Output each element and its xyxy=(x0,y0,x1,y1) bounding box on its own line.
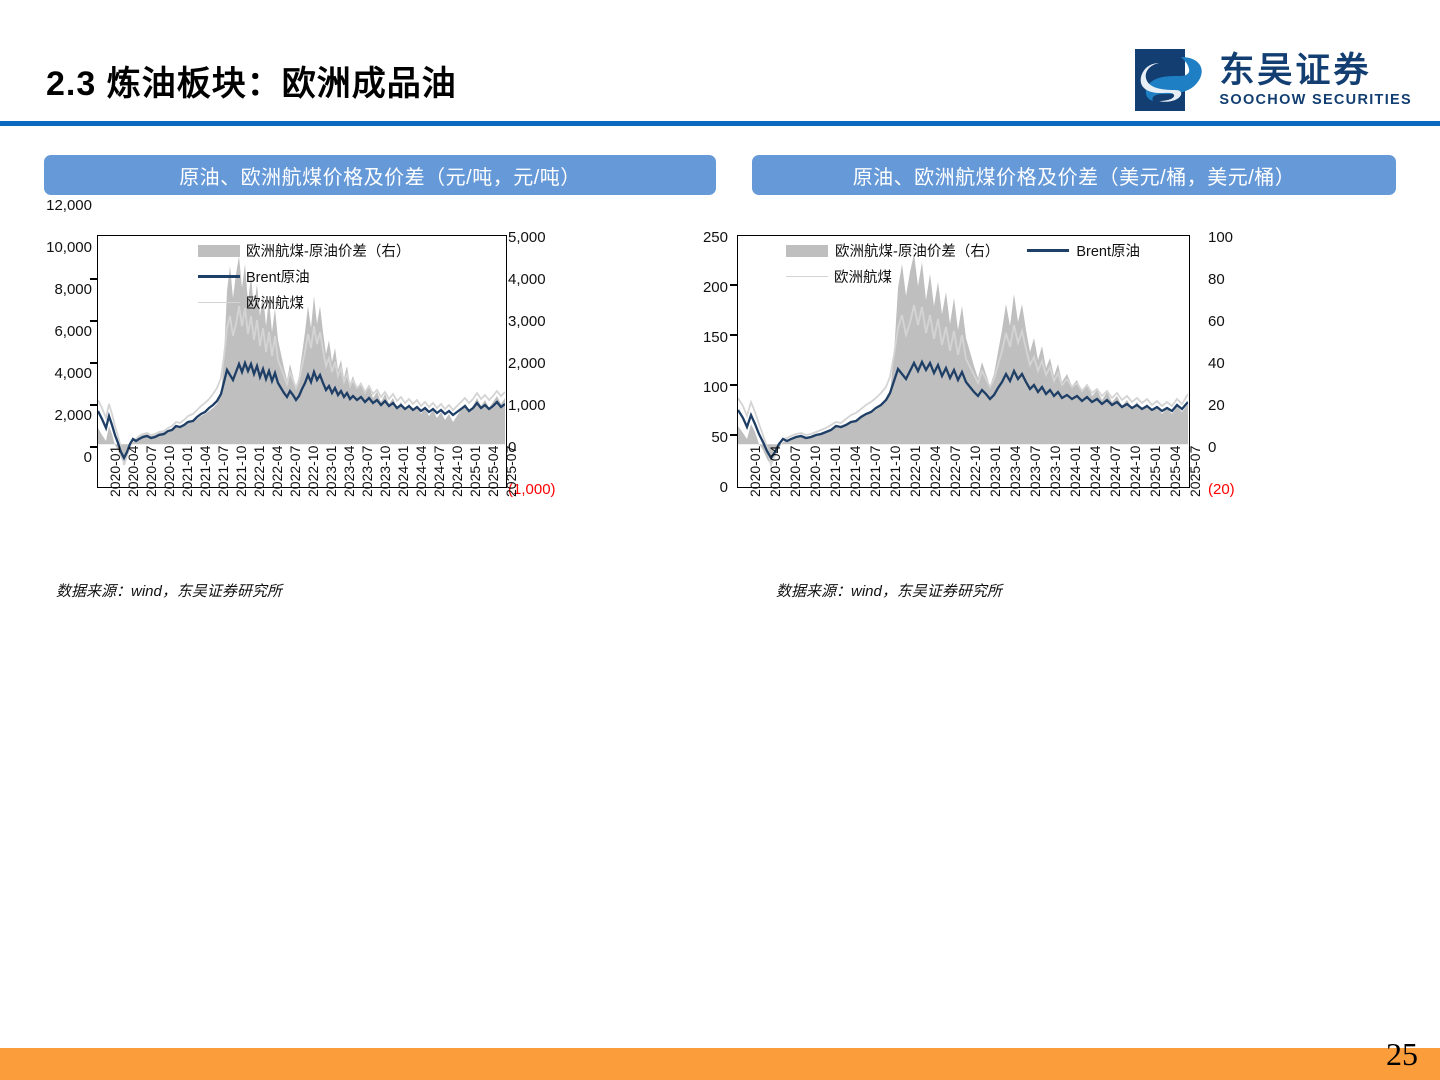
x-tick-9: 2022-04 xyxy=(270,446,284,497)
company-logo: 东吴证券 SOOCHOW SECURITIES xyxy=(1135,48,1412,112)
legend-swatch-jet xyxy=(786,276,828,277)
x-tick-17: 2024-04 xyxy=(414,446,428,497)
x-tick-2: 2020-07 xyxy=(144,446,158,497)
x-tick-0: 2020-01 xyxy=(748,446,762,497)
x-tick-12: 2023-01 xyxy=(988,446,1002,497)
x-tick-10: 2022-07 xyxy=(288,446,302,497)
x-tick-8: 2022-01 xyxy=(252,446,266,497)
x-tick-11: 2022-10 xyxy=(968,446,982,497)
x-tick-20: 2025-01 xyxy=(1148,446,1162,497)
x-tick-11: 2022-10 xyxy=(306,446,320,497)
y-tick-mark-right-150 xyxy=(730,334,737,336)
x-tick-0: 2020-01 xyxy=(108,446,122,497)
legend-label-brent: Brent原油 xyxy=(246,266,310,287)
y2-tick-right-neg20: (20) xyxy=(1208,482,1235,497)
x-tick-19: 2024-10 xyxy=(1128,446,1142,497)
legend-label-jet: 欧洲航煤 xyxy=(834,266,892,287)
x-tick-18: 2024-07 xyxy=(1108,446,1122,497)
legend-swatch-jet xyxy=(198,302,240,303)
y-tick-left-4000: 4,000 xyxy=(24,366,92,381)
chart-usd-per-barrel: 0 50 100 150 200 250 (20) 0 20 40 60 80 … xyxy=(684,222,1264,522)
y2-tick-left-2000: 2,000 xyxy=(508,356,546,371)
legend-usd: 欧洲航煤-原油价差（右） Brent原油 欧洲航煤 xyxy=(786,240,1140,292)
x-tick-16: 2024-01 xyxy=(396,446,410,497)
x-tick-17: 2024-04 xyxy=(1088,446,1102,497)
chart-banner-left: 原油、欧洲航煤价格及价差（元/吨，元/吨） xyxy=(44,155,716,195)
soochow-logo-icon xyxy=(1135,49,1207,111)
x-tick-13: 2023-04 xyxy=(1008,446,1022,497)
y-tick-mark-left-2000 xyxy=(90,446,97,448)
x-tick-19: 2024-10 xyxy=(450,446,464,497)
legend-label-brent: Brent原油 xyxy=(1076,240,1140,261)
x-tick-5: 2021-04 xyxy=(848,446,862,497)
y2-tick-left-5000: 5,000 xyxy=(508,230,546,245)
chart-cny-per-ton: 0 2,000 4,000 6,000 8,000 10,000 12,000 … xyxy=(24,222,584,522)
y2-tick-right-100: 100 xyxy=(1208,230,1233,245)
y-tick-mark-right-200 xyxy=(730,284,737,286)
logo-name-en: SOOCHOW SECURITIES xyxy=(1219,93,1412,108)
x-tick-7: 2021-10 xyxy=(234,446,248,497)
logo-name-cn: 东吴证券 xyxy=(1219,53,1412,88)
y-tick-mark-right-50 xyxy=(730,434,737,436)
page-title: 2.3 炼油板块：欧洲成品油 xyxy=(46,56,457,105)
y-tick-mark-left-8000 xyxy=(90,320,97,322)
x-tick-4: 2021-01 xyxy=(180,446,194,497)
header-divider xyxy=(0,121,1440,126)
x-tick-3: 2020-10 xyxy=(808,446,822,497)
y-tick-left-6000: 6,000 xyxy=(24,324,92,339)
x-tick-16: 2024-01 xyxy=(1068,446,1082,497)
legend-label-jet: 欧洲航煤 xyxy=(246,292,304,313)
x-tick-21: 2025-04 xyxy=(1168,446,1182,497)
x-tick-13: 2023-04 xyxy=(342,446,356,497)
y-tick-left-8000: 8,000 xyxy=(24,282,92,297)
y2-tick-left-1000: 1,000 xyxy=(508,398,546,413)
legend-swatch-spread xyxy=(198,245,240,257)
y-tick-left-2000: 2,000 xyxy=(24,408,92,423)
y-tick-right-50: 50 xyxy=(684,430,728,445)
y-tick-right-150: 150 xyxy=(684,330,728,345)
y-tick-right-200: 200 xyxy=(684,280,728,295)
x-tick-9: 2022-04 xyxy=(928,446,942,497)
x-tick-1: 2020-04 xyxy=(126,446,140,497)
y2-tick-right-20: 20 xyxy=(1208,398,1225,413)
y-tick-left-12000: 12,000 xyxy=(24,198,92,213)
x-tick-20: 2025-01 xyxy=(468,446,482,497)
legend-cny: 欧洲航煤-原油价差（右） Brent原油 欧洲航煤 xyxy=(198,240,410,318)
y2-tick-right-0: 0 xyxy=(1208,440,1216,455)
y-tick-mark-right-100 xyxy=(730,384,737,386)
source-note-left: 数据来源：wind，东吴证券研究所 xyxy=(56,580,282,601)
y-tick-mark-left-6000 xyxy=(90,362,97,364)
x-tick-3: 2020-10 xyxy=(162,446,176,497)
legend-swatch-spread xyxy=(786,245,828,257)
legend-label-spread: 欧洲航煤-原油价差（右） xyxy=(835,240,999,261)
x-tick-12: 2023-01 xyxy=(324,446,338,497)
y-tick-left-10000: 10,000 xyxy=(24,240,92,255)
footer-bar xyxy=(0,1048,1440,1080)
y2-tick-right-60: 60 xyxy=(1208,314,1225,329)
x-tick-18: 2024-07 xyxy=(432,446,446,497)
y2-tick-right-40: 40 xyxy=(1208,356,1225,371)
x-tick-1: 2020-04 xyxy=(768,446,782,497)
x-tick-6: 2021-07 xyxy=(216,446,230,497)
y2-tick-left-4000: 4,000 xyxy=(508,272,546,287)
x-tick-21: 2025-04 xyxy=(486,446,500,497)
x-tick-22: 2025-07 xyxy=(1188,446,1202,497)
x-tick-15: 2023-10 xyxy=(1048,446,1062,497)
y-tick-right-250: 250 xyxy=(684,230,728,245)
legend-label-spread: 欧洲航煤-原油价差（右） xyxy=(246,240,410,261)
x-tick-2: 2020-07 xyxy=(788,446,802,497)
legend-swatch-brent xyxy=(1027,249,1069,252)
y-tick-left-0: 0 xyxy=(24,450,92,465)
source-note-right: 数据来源：wind，东吴证券研究所 xyxy=(776,580,1002,601)
x-tick-22: 2025-07 xyxy=(504,446,518,497)
x-tick-10: 2022-07 xyxy=(948,446,962,497)
y-tick-mark-left-10000 xyxy=(90,278,97,280)
x-tick-14: 2023-07 xyxy=(360,446,374,497)
y-tick-mark-left-4000 xyxy=(90,404,97,406)
y-tick-right-100: 100 xyxy=(684,380,728,395)
x-tick-5: 2021-04 xyxy=(198,446,212,497)
y2-tick-right-80: 80 xyxy=(1208,272,1225,287)
page-number: 25 xyxy=(1386,1036,1418,1073)
x-tick-8: 2022-01 xyxy=(908,446,922,497)
x-tick-7: 2021-10 xyxy=(888,446,902,497)
x-tick-14: 2023-07 xyxy=(1028,446,1042,497)
y2-tick-left-3000: 3,000 xyxy=(508,314,546,329)
chart-banner-right: 原油、欧洲航煤价格及价差（美元/桶，美元/桶） xyxy=(752,155,1396,195)
logo-text: 东吴证券 SOOCHOW SECURITIES xyxy=(1219,53,1412,108)
legend-swatch-brent xyxy=(198,275,240,278)
x-tick-15: 2023-10 xyxy=(378,446,392,497)
x-tick-6: 2021-07 xyxy=(868,446,882,497)
x-tick-4: 2021-01 xyxy=(828,446,842,497)
y-tick-right-0: 0 xyxy=(684,480,728,495)
